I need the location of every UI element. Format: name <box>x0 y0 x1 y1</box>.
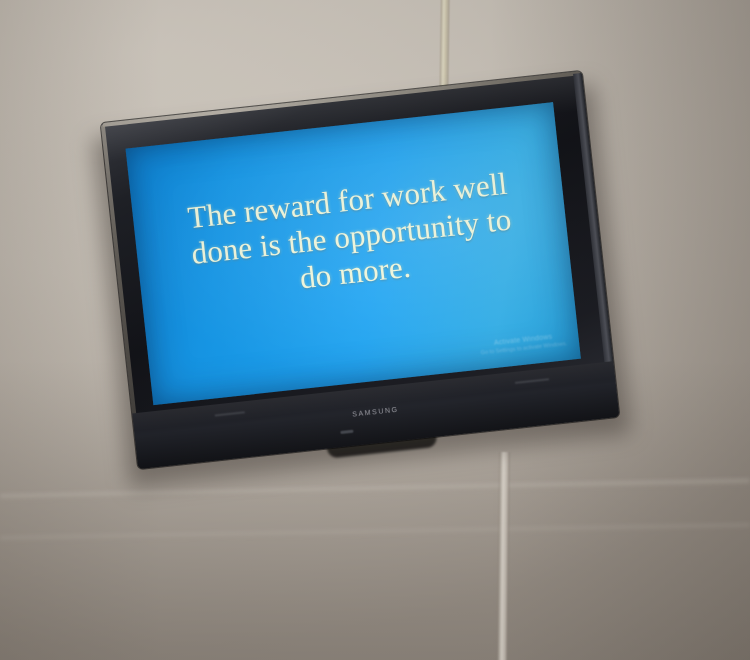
cable-conduit-below-tv <box>497 452 510 660</box>
ir-sensor-icon <box>340 430 353 434</box>
screen-vignette <box>126 102 581 405</box>
tv-bezel: The reward for work well done is the opp… <box>101 71 620 469</box>
photo-scene: The reward for work well done is the opp… <box>0 0 750 660</box>
television[interactable]: The reward for work well done is the opp… <box>101 71 620 469</box>
tv-screen[interactable]: The reward for work well done is the opp… <box>126 102 581 405</box>
